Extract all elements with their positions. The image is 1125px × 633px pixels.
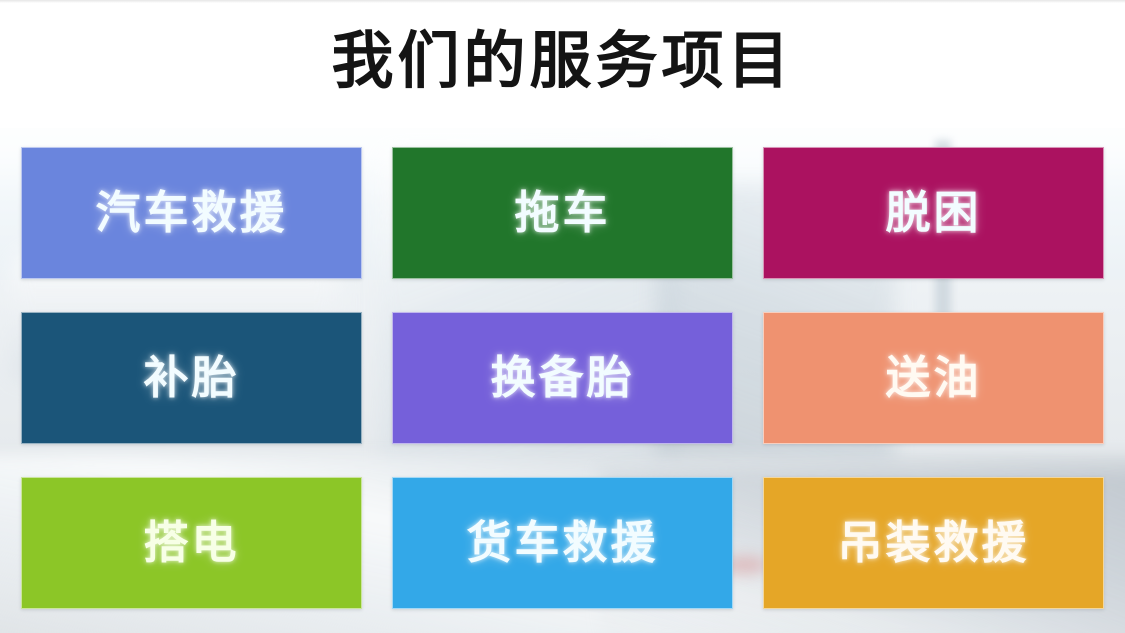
service-tile-car-rescue[interactable]: 汽车救援 bbox=[21, 147, 362, 279]
page-title: 我们的服务项目 bbox=[0, 22, 1125, 102]
service-tile-tire-repair[interactable]: 补胎 bbox=[21, 312, 362, 444]
service-tile-label: 补胎 bbox=[143, 353, 239, 403]
service-tile-label: 搭电 bbox=[143, 518, 239, 568]
service-tile-extrication[interactable]: 脱困 bbox=[763, 147, 1104, 279]
service-tile-jump-start[interactable]: 搭电 bbox=[21, 477, 362, 609]
service-tile-label: 货车救援 bbox=[466, 518, 658, 568]
service-tile-tow-truck[interactable]: 拖车 bbox=[392, 147, 733, 279]
service-tile-label: 脱困 bbox=[885, 188, 981, 238]
service-tile-crane-rescue[interactable]: 吊装救援 bbox=[763, 477, 1104, 609]
service-tile-label: 换备胎 bbox=[490, 353, 634, 403]
service-tile-label: 送油 bbox=[885, 353, 981, 403]
service-tile-label: 拖车 bbox=[514, 188, 610, 238]
service-tile-truck-rescue[interactable]: 货车救援 bbox=[392, 477, 733, 609]
service-tile-label: 吊装救援 bbox=[837, 518, 1029, 568]
service-tile-spare-tire-change[interactable]: 换备胎 bbox=[392, 312, 733, 444]
top-edge-hairline bbox=[0, 0, 1125, 3]
service-grid: 汽车救援 拖车 脱困 补胎 换备胎 送油 搭电 货车救援 吊装救援 bbox=[21, 147, 1104, 615]
service-tile-label: 汽车救援 bbox=[95, 188, 287, 238]
service-poster: 我们的服务项目 汽车救援 拖车 脱困 补胎 换备胎 送油 搭电 货车救援 吊装救… bbox=[0, 0, 1125, 633]
service-tile-fuel-delivery[interactable]: 送油 bbox=[763, 312, 1104, 444]
